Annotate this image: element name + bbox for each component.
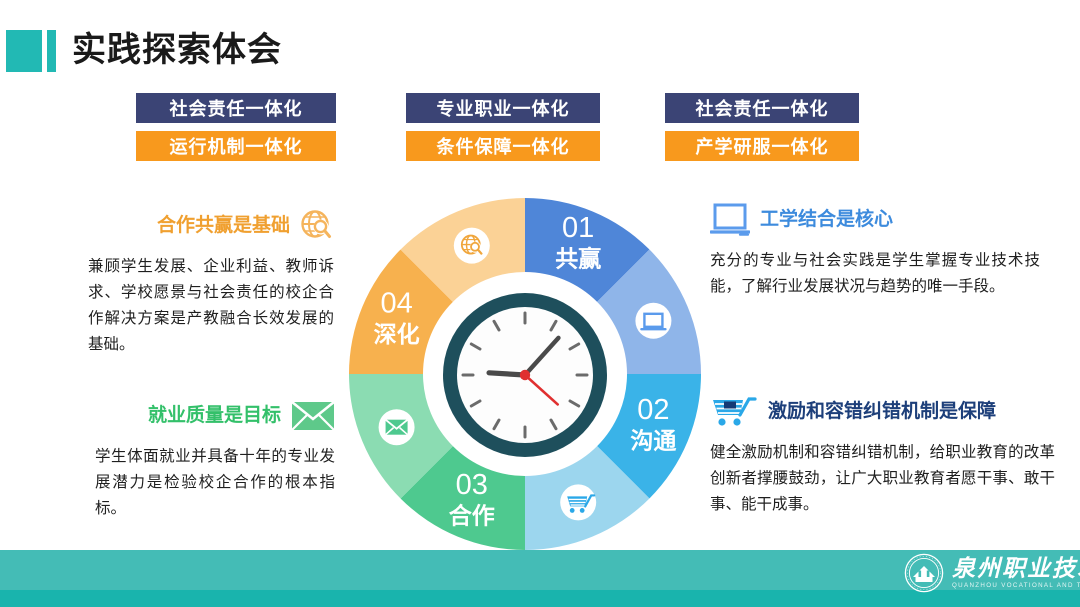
wheel-number-01: 01 bbox=[562, 212, 594, 244]
wheel-label-01: 共赢 bbox=[555, 246, 601, 272]
hour-hand bbox=[489, 373, 525, 375]
title-accent-block bbox=[6, 30, 42, 72]
block-body-integration: 充分的专业与社会实践是学生掌握专业技术技能，了解行业发展状况与趋势的唯一手段。 bbox=[710, 248, 1040, 300]
text-block-bottom-left: 就业质量是目标 学生体面就业并具备十年的专业发展潜力是检验校企合作的根本指标。 bbox=[95, 396, 335, 522]
globe-search-icon bbox=[454, 228, 490, 264]
clock-graphic bbox=[437, 287, 613, 463]
badge-dark-3[interactable]: 社会责任一体化 bbox=[665, 93, 859, 123]
university-name-cn: 泉州职业技术大学 bbox=[952, 556, 1080, 581]
block-header-top-right: 工学结合是核心 bbox=[710, 200, 1040, 240]
text-block-bottom-right: 激励和容错纠错机制是保障 健全激励机制和容错纠错机制，给职业教育的改革创新者撑腰… bbox=[710, 392, 1055, 518]
block-title-integration: 工学结合是核心 bbox=[760, 200, 893, 240]
university-logo: 泉州职业技术大学 QUANZHOU VOCATIONAL AND TECHNIC… bbox=[904, 551, 1080, 595]
wheel-number-03: 03 bbox=[456, 469, 488, 501]
laptop-icon bbox=[635, 303, 671, 339]
block-body-employment: 学生体面就业并具备十年的专业发展潜力是检验校企合作的根本指标。 bbox=[95, 444, 335, 522]
badge-orange-3[interactable]: 产学研服一体化 bbox=[665, 131, 859, 161]
clock-center-pin bbox=[520, 370, 530, 380]
wheel-label-04: 深化 bbox=[374, 321, 420, 347]
badge-orange-2[interactable]: 条件保障一体化 bbox=[406, 131, 600, 161]
laptop-icon bbox=[710, 203, 750, 237]
block-header-bottom-left: 就业质量是目标 bbox=[95, 396, 335, 436]
university-logo-text: 泉州职业技术大学 QUANZHOU VOCATIONAL AND TECHNIC… bbox=[952, 556, 1080, 590]
badge-column-1: 社会责任一体化 运行机制一体化 bbox=[136, 93, 336, 161]
university-seal-icon bbox=[904, 553, 944, 593]
block-title-employment: 就业质量是目标 bbox=[148, 396, 281, 436]
badge-orange-1[interactable]: 运行机制一体化 bbox=[136, 131, 336, 161]
text-block-top-left: 合作共赢是基础 兼顾学生发展、企业利益、教师诉求、学校愿景与社会责任的校企合作解… bbox=[88, 206, 334, 358]
block-title-cooperation: 合作共赢是基础 bbox=[157, 206, 290, 246]
text-block-top-right: 工学结合是核心 充分的专业与社会实践是学生掌握专业技术技能，了解行业发展状况与趋… bbox=[710, 200, 1040, 300]
wheel-label-02: 沟通 bbox=[630, 427, 676, 453]
badge-dark-2[interactable]: 专业职业一体化 bbox=[406, 93, 600, 123]
cart-icon bbox=[560, 484, 596, 520]
badge-column-2: 专业职业一体化 条件保障一体化 bbox=[406, 93, 600, 161]
envelope-icon bbox=[379, 409, 415, 445]
cart-icon bbox=[710, 395, 758, 429]
badge-column-3: 社会责任一体化 产学研服一体化 bbox=[665, 93, 859, 161]
slide-root: 实践探索体会 社会责任一体化 运行机制一体化 专业职业一体化 条件保障一体化 社… bbox=[0, 0, 1080, 607]
block-title-incentive: 激励和容错纠错机制是保障 bbox=[768, 392, 996, 432]
page-title: 实践探索体会 bbox=[72, 27, 282, 73]
block-header-bottom-right: 激励和容错纠错机制是保障 bbox=[710, 392, 1055, 432]
globe-search-icon bbox=[300, 209, 334, 243]
badge-dark-1[interactable]: 社会责任一体化 bbox=[136, 93, 336, 123]
block-body-incentive: 健全激励机制和容错纠错机制，给职业教育的改革创新者撑腰鼓劲，让广大职业教育者愿干… bbox=[710, 440, 1055, 518]
block-body-cooperation: 兼顾学生发展、企业利益、教师诉求、学校愿景与社会责任的校企合作解决方案是产教融合… bbox=[88, 254, 334, 358]
wheel-number-02: 02 bbox=[637, 394, 669, 426]
wheel-number-04: 04 bbox=[380, 287, 412, 319]
title-accent-bar bbox=[47, 30, 56, 72]
university-name-en: QUANZHOU VOCATIONAL AND TECHNICAL UNIVER… bbox=[952, 581, 1080, 590]
envelope-icon bbox=[291, 400, 335, 432]
block-header-top-left: 合作共赢是基础 bbox=[88, 206, 334, 246]
wheel-label-03: 合作 bbox=[449, 502, 495, 528]
